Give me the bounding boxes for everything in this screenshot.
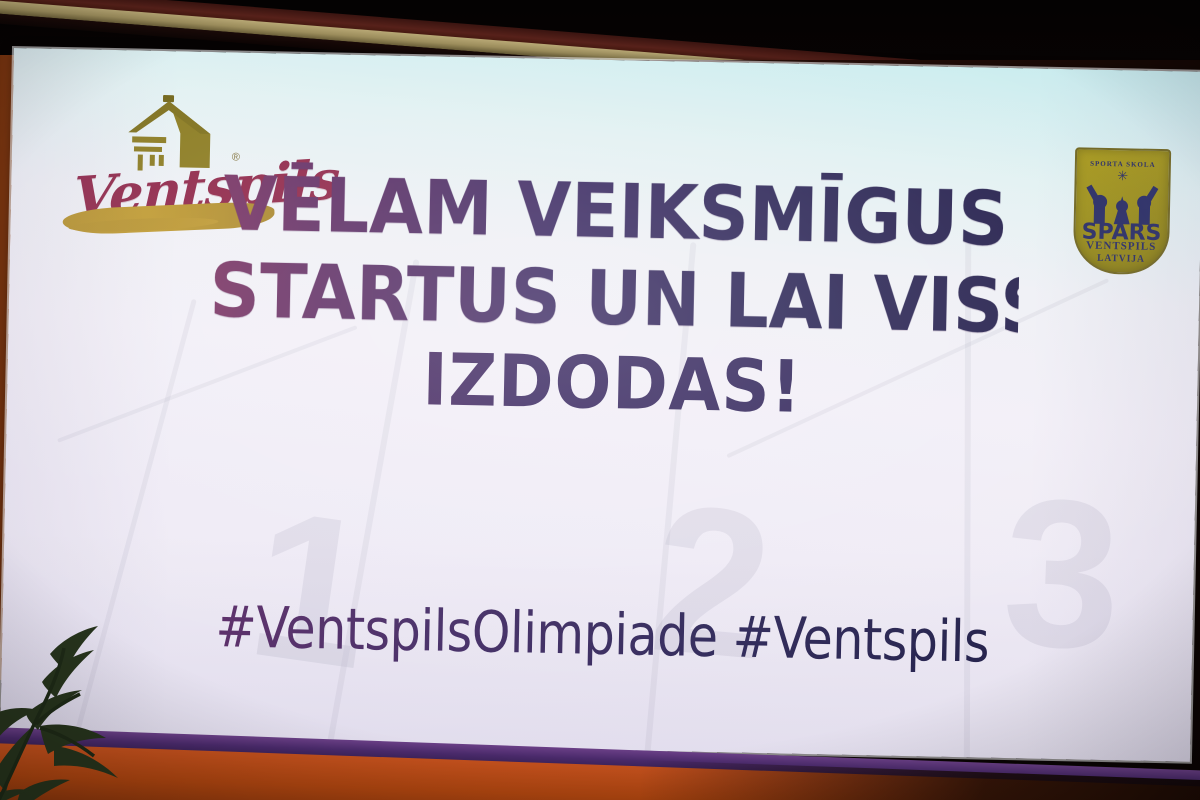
lane-number-3: 3 — [1000, 467, 1121, 681]
spars-emblem: SPORTA SKOLA ✳ SPARS VENTSPILS LATVIJA — [1073, 147, 1172, 275]
emblem-country: LATVIJA — [1075, 252, 1166, 265]
headline-line-3: IZDODAS! — [207, 334, 1018, 434]
headline-line-2: STARTUS UN LAI VISS — [209, 247, 1020, 350]
lane-number-1: 1 — [239, 477, 380, 701]
slide-headline: VĒLAM VEIKSMĪGUS STARTUS UN LAI VISS IZD… — [207, 160, 1021, 434]
foreground-plant — [0, 596, 160, 800]
emblem-city: VENTSPILS — [1073, 239, 1169, 253]
slide-hashtags: #VentspilsOlimpiade #Ventspils — [189, 594, 1016, 677]
projection-screen: 1 2 3 Ventspils ® — [0, 48, 1200, 772]
star-icon: ✳ — [1117, 170, 1129, 182]
slide-surface: 1 2 3 Ventspils ® — [0, 48, 1200, 762]
projector-photo: 1 2 3 Ventspils ® — [0, 0, 1200, 800]
